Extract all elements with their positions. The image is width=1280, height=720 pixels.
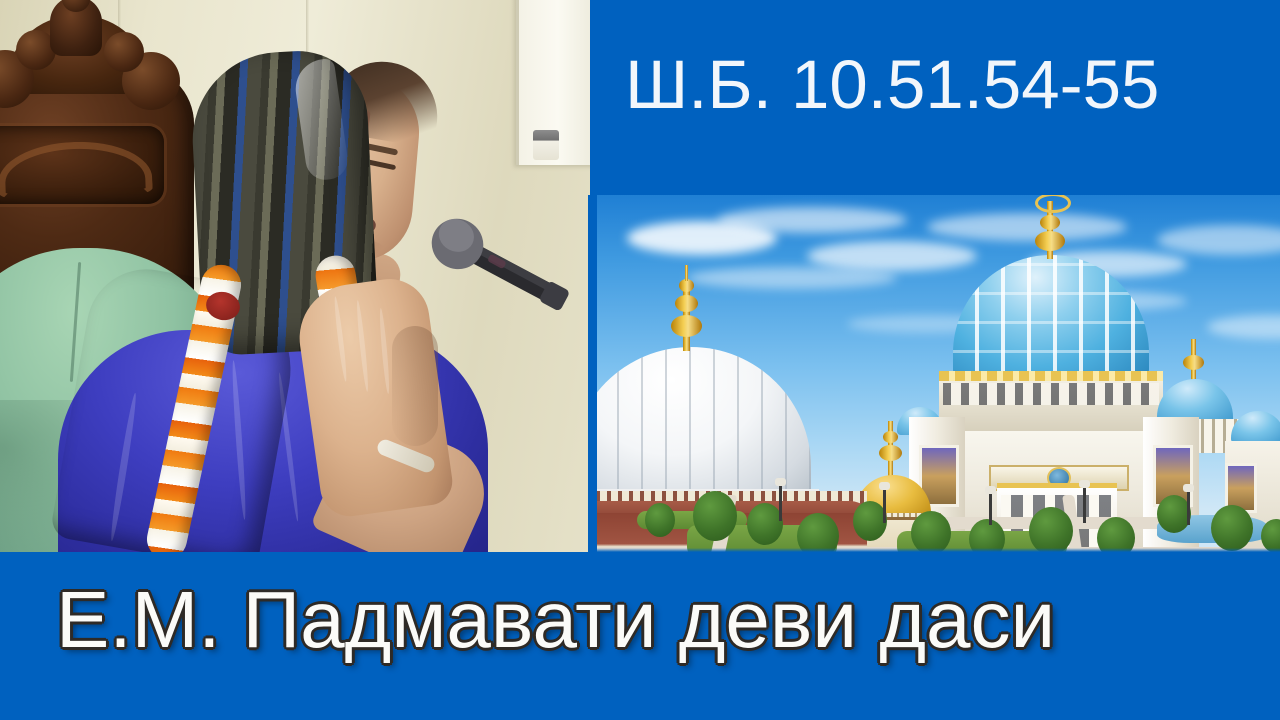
dome-spire-bulb [1035,231,1065,251]
tree [1029,507,1073,552]
samadhi-spire-bulb [671,315,702,337]
whiteboard-clip [533,130,559,160]
tree [1097,517,1135,552]
cloud [927,213,1127,241]
lamp-post [1187,491,1190,525]
speaker-name-banner: Е.М. Падмавати деви даси [0,552,1280,720]
tree [1211,505,1253,551]
thumbnail-canvas: Ш.Б. 10.51.54-55 [0,0,1280,720]
scripture-reference-title: Ш.Б. 10.51.54-55 [625,50,1265,119]
cloud [687,267,897,289]
drum-gold-band [939,371,1163,381]
microphone-icon [400,205,590,325]
blue-gutter [588,195,597,552]
lamp-post [779,485,782,521]
dome-spire-bulb [1040,215,1060,230]
tree [911,511,951,552]
lamp-post [1083,487,1086,523]
samadhi-spire-bulb [675,295,698,312]
tree [693,491,737,541]
drum-arcade [943,383,1159,405]
cloud [1207,315,1280,339]
tree [853,501,887,541]
lamp-post [883,489,886,523]
tree [797,513,839,552]
gold-pavilion-bulb [883,431,898,443]
gold-pavilion-bulb [879,445,902,461]
tree [747,503,783,545]
chair-knob [104,32,144,72]
side-dome-bulb [1183,355,1204,370]
cloud [717,207,907,233]
title-panel: Ш.Б. 10.51.54-55 [590,0,1280,195]
thumb-shadow [392,326,438,446]
tree [1157,495,1191,533]
speaker-name-text: Е.М. Падмавати деви даси [56,578,1236,662]
lamp-post [989,493,992,525]
speaker-photo [0,0,590,552]
tree [645,503,675,537]
samadhi-spire-tip [685,265,688,281]
temple-photo [597,195,1280,552]
dome-chakra-ring [1035,195,1071,213]
cloud [1157,225,1280,255]
cloud [807,241,977,271]
white-dome-ribs [597,347,811,497]
far-blue-dome [1231,411,1280,443]
